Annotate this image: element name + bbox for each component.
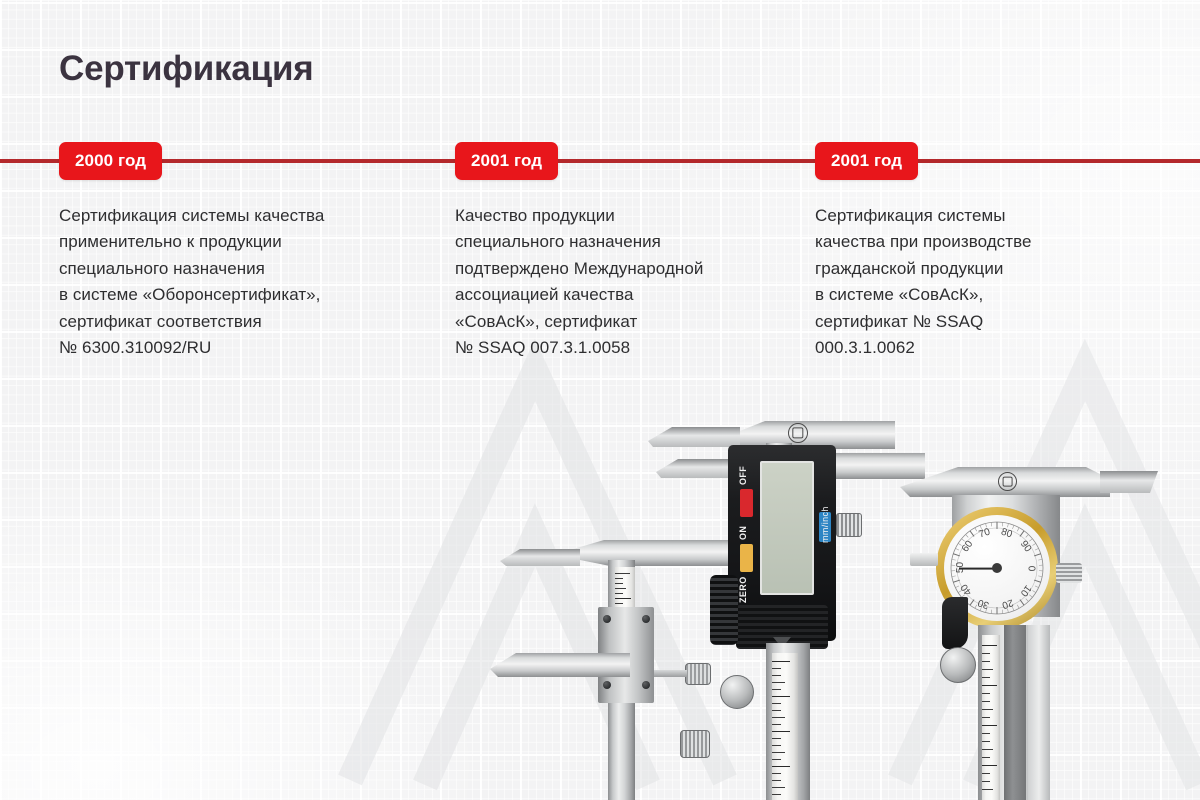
dial-side-pin: [1056, 563, 1082, 583]
vernier-lower-jaw: [490, 653, 630, 677]
timeline-rule: [0, 159, 1200, 163]
on-label: ON: [738, 526, 748, 540]
off-label: OFF: [738, 466, 748, 485]
dial-roller-knob[interactable]: [940, 647, 976, 683]
dial-hub: [992, 563, 1002, 573]
vernier-upper-jaw: [570, 540, 730, 566]
digital-round-boss: [720, 675, 754, 709]
vernier-upper-jaw-tip: [500, 549, 580, 566]
off-button[interactable]: [740, 489, 753, 517]
certification-column-1: Сертификация системы качества применител…: [59, 203, 439, 361]
dial-brand-emblem-icon: [998, 472, 1017, 491]
certification-text-1: Сертификация системы качества применител…: [59, 203, 439, 361]
digital-roller: [710, 575, 738, 645]
digital-upper-jaw-tip: [648, 427, 740, 447]
certification-column-3: Сертификация системы качества при произв…: [815, 203, 1155, 361]
vernier-lock-screw: [685, 663, 711, 685]
vernier-lock-stem: [654, 670, 687, 677]
page-title: Сертификация: [59, 49, 314, 89]
digital-lock-knob[interactable]: [680, 730, 710, 758]
digital-scale-number: 80: [797, 684, 798, 694]
certification-text-2: Качество продукции специального назначен…: [455, 203, 805, 361]
certification-text-3: Сертификация системы качества при произв…: [815, 203, 1155, 361]
lcd-display: [760, 461, 814, 595]
digital-scale-number: 90: [797, 719, 798, 729]
dial-number: 0: [1025, 566, 1036, 572]
digital-thumb-wheel[interactable]: [836, 513, 862, 537]
vernier-slider-screw: [642, 615, 650, 623]
vernier-scale-number: 1: [634, 592, 635, 597]
vernier-slider-screw: [603, 615, 611, 623]
digital-scale-number: 70: [797, 653, 798, 659]
dial-upper-jaw-tip: [1100, 471, 1158, 493]
zero-label: ZERO: [738, 576, 748, 603]
vernier-scale-number: 0: [634, 567, 635, 572]
brand-emblem-icon: [788, 423, 808, 443]
year-badge-2000[interactable]: 2000 год: [59, 142, 162, 180]
dial-lower-scale: [982, 635, 1000, 800]
calipers-photograph: 0 1 2 3 4 5 6 7 8: [470, 385, 1200, 800]
vernier-slider-screw: [642, 681, 650, 689]
mm-inch-label: mm/inch: [820, 506, 830, 543]
slide-canvas: 0 1 2 3 4 5 6 7 8: [0, 0, 1200, 800]
on-button[interactable]: [740, 544, 753, 572]
digital-lower-scale: 70 80 90 100: [772, 653, 798, 800]
year-badge-2001-b[interactable]: 2001 год: [815, 142, 918, 180]
dial-thumb-lever[interactable]: [942, 597, 968, 649]
dial-bezel-lock[interactable]: [910, 553, 938, 566]
vernier-slider-screw: [603, 681, 611, 689]
year-badge-2001-a[interactable]: 2001 год: [455, 142, 558, 180]
digital-scale-number: 100: [797, 749, 798, 764]
vernier-beam-lower: [608, 703, 635, 800]
dial-beam-groove: [1004, 625, 1026, 800]
certification-column-2: Качество продукции специального назначен…: [455, 203, 805, 361]
dial-beam-edge: [1028, 625, 1050, 800]
